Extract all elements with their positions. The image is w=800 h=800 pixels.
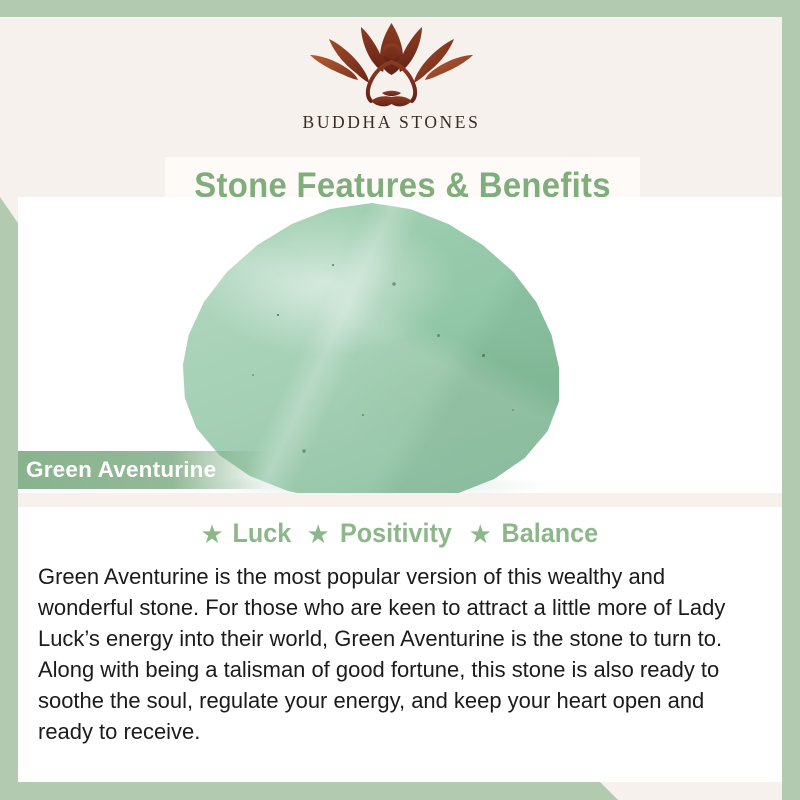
poster-canvas: BUDDHA STONES Stone Features & Benefits … [0,0,800,800]
lotus-meditation-icon [304,21,479,109]
green-aventurine-stone-image [181,203,563,493]
frame-border-top [0,0,800,17]
frame-border-right [782,0,800,800]
benefit-label: Luck [232,518,291,549]
benefit-label: Positivity [340,518,452,549]
star-icon: ★ [307,521,330,547]
section-divider [18,493,783,507]
header-section: BUDDHA STONES Stone Features & Benefits [0,17,783,197]
description-paragraph: Green Aventurine is the most popular ver… [38,561,752,747]
frame-border-left [0,197,18,782]
star-icon: ★ [200,521,223,547]
stone-name-band: Green Aventurine [18,451,268,489]
benefit-keywords: ★ Luck ★ Positivity ★ Balance [18,518,783,549]
brand-logo-block: BUDDHA STONES [0,21,783,141]
star-icon: ★ [469,521,492,547]
benefit-item-positivity: ★ Positivity [307,518,455,549]
description-section: ★ Luck ★ Positivity ★ Balance Green Aven… [18,507,783,782]
brand-name: BUDDHA STONES [303,112,481,133]
benefit-item-luck: ★ Luck [200,518,292,549]
benefit-label: Balance [502,518,599,549]
stone-photo [18,197,783,493]
stone-name-label: Green Aventurine [26,457,216,483]
benefit-item-balance: ★ Balance [469,518,601,549]
